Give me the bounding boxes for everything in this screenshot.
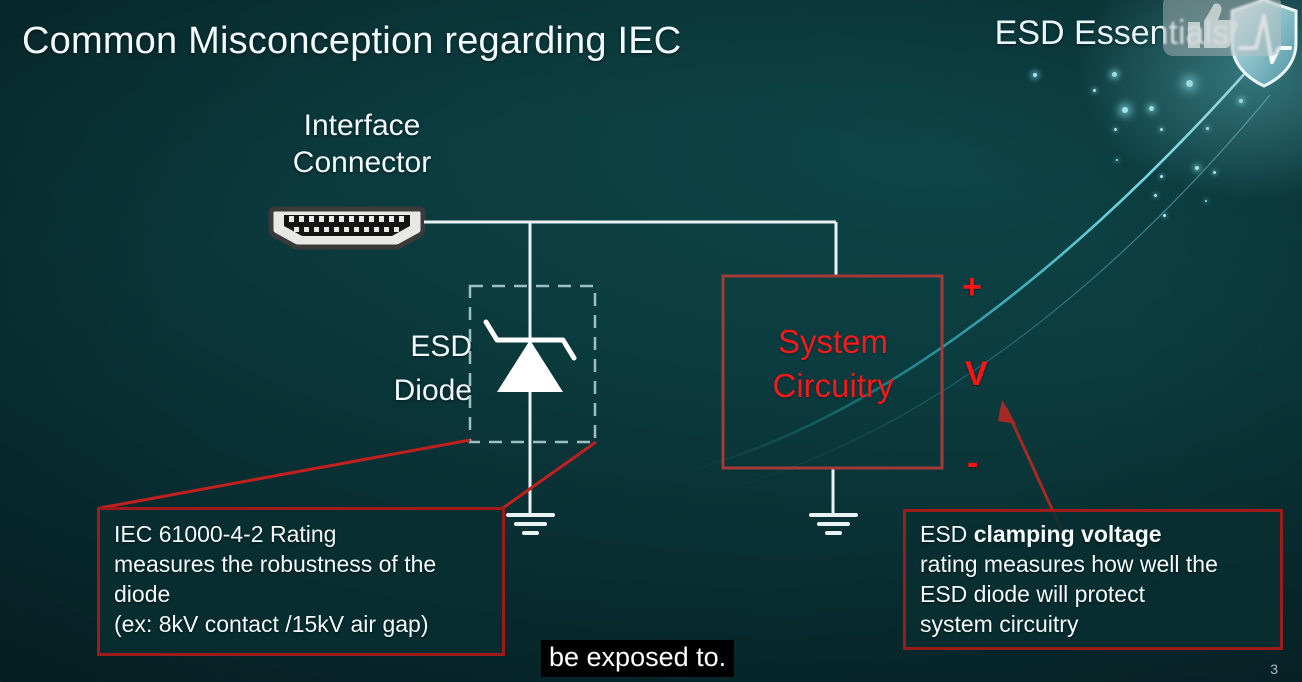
polarity-plus-marker: + (962, 268, 982, 307)
callout-right-line1-emphasis: clamping voltage (974, 521, 1162, 547)
callout-right-box: ESD clamping voltage rating measures how… (903, 509, 1283, 650)
callout-left-box: IEC 61000-4-2 Rating measures the robust… (97, 507, 505, 656)
ground-icon (508, 515, 553, 533)
callout-left-leader (100, 440, 596, 508)
system-label-line2: Circuitry (724, 364, 942, 408)
callout-right-line1: ESD clamping voltage (920, 520, 1280, 550)
voltage-marker: V (965, 355, 988, 394)
system-circuitry-label: System Circuitry (724, 320, 942, 407)
callout-right-line4: system circuitry (920, 610, 1280, 640)
callout-right-line3: ESD diode will protect (920, 580, 1280, 610)
callout-left-line1: IEC 61000-4-2 Rating (114, 520, 502, 550)
video-caption: be exposed to. (541, 640, 734, 677)
callout-left-line2: measures the robustness of the (114, 550, 502, 580)
callout-right-line2: rating measures how well the (920, 550, 1280, 580)
page-number: 3 (1270, 661, 1278, 677)
callout-right-line1-prefix: ESD (920, 521, 974, 547)
ground-icon (811, 515, 856, 533)
callout-left-line3: diode (114, 580, 502, 610)
slide-canvas: Common Misconception regarding IEC ESD E… (0, 0, 1302, 682)
polarity-minus-marker: - (967, 444, 978, 483)
system-label-line1: System (724, 320, 942, 364)
callout-left-line4: (ex: 8kV contact /15kV air gap) (114, 610, 502, 640)
